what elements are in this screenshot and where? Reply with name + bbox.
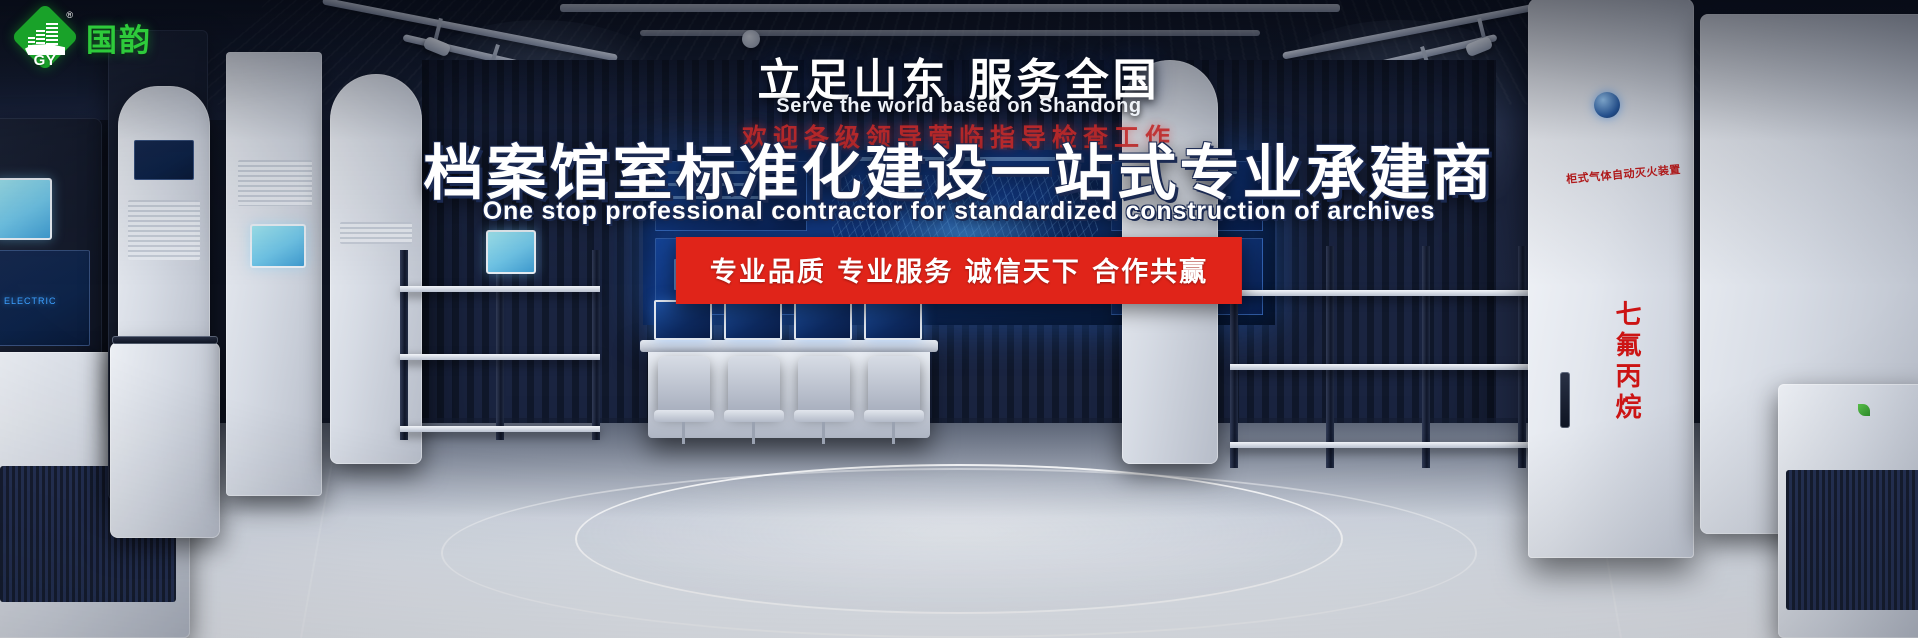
shelf-post: [1326, 246, 1334, 468]
slogan-banner[interactable]: 专业品质 专业服务 诚信天下 合作共赢: [676, 237, 1242, 304]
office-chair-leg: [682, 422, 685, 444]
slogan-text: 专业品质 专业服务 诚信天下 合作共赢: [710, 250, 1208, 289]
shelf-post: [592, 250, 600, 440]
shelf-post: [1518, 246, 1526, 468]
company-name: 国韵: [86, 15, 152, 60]
eco-leaf-icon: [1858, 404, 1870, 416]
office-chair-seat: [864, 410, 924, 422]
company-logo[interactable]: GY ® 国韵: [14, 6, 152, 68]
cabinet-door-handle: [1560, 372, 1570, 428]
shelf-board: [1230, 290, 1530, 296]
office-chair-seat: [794, 410, 854, 422]
left-panel-screen: [250, 224, 306, 268]
cart-handle: [112, 336, 218, 344]
workstation-monitor: [654, 300, 712, 340]
shelf-board: [400, 426, 600, 432]
left-cabinet-brand-label: ELECTRIC: [4, 296, 57, 306]
workstation-desk: [640, 340, 938, 352]
headline-english: Serve the world based on Shandong: [0, 95, 1918, 118]
left-mobile-cart: [110, 342, 220, 538]
hero-banner: ELECTRIC: [0, 0, 1918, 638]
gy-diamond-icon: GY ®: [14, 6, 76, 68]
shelf-post: [496, 250, 504, 440]
office-chair-leg: [822, 422, 825, 444]
shelf-post: [400, 250, 408, 440]
left-wall-monitor: [486, 230, 536, 274]
logo-gy-text: GY: [14, 52, 76, 69]
ceiling-light-strip: [560, 4, 1340, 12]
workstation-monitor: [724, 300, 782, 340]
workstation-monitor: [864, 300, 922, 340]
shelf-board: [400, 286, 600, 292]
shelf-board: [1230, 364, 1530, 370]
ceiling-light-strip: [640, 30, 1260, 36]
shelf-post: [1422, 246, 1430, 468]
office-chair-seat: [724, 410, 784, 422]
floor-inlay-ring-inner: [575, 464, 1342, 614]
gas-agent-label: 七氟丙烷: [1608, 300, 1645, 424]
office-chair-seat: [654, 410, 714, 422]
office-chair-leg: [892, 422, 895, 444]
left-shelving-unit: [400, 250, 600, 440]
ac-unit-grille: [1786, 470, 1918, 610]
office-chair-back: [728, 356, 780, 412]
right-shelving-unit: [1230, 246, 1530, 468]
registered-trademark-icon: ®: [66, 10, 73, 20]
workstation-monitor: [794, 300, 852, 340]
main-title-english: One stop professional contractor for sta…: [0, 197, 1918, 226]
office-chair-leg: [752, 422, 755, 444]
office-chair-back: [798, 356, 850, 412]
shelf-board: [1230, 442, 1530, 448]
office-chair-back: [868, 356, 920, 412]
shelf-board: [400, 354, 600, 360]
office-chair-back: [658, 356, 710, 412]
